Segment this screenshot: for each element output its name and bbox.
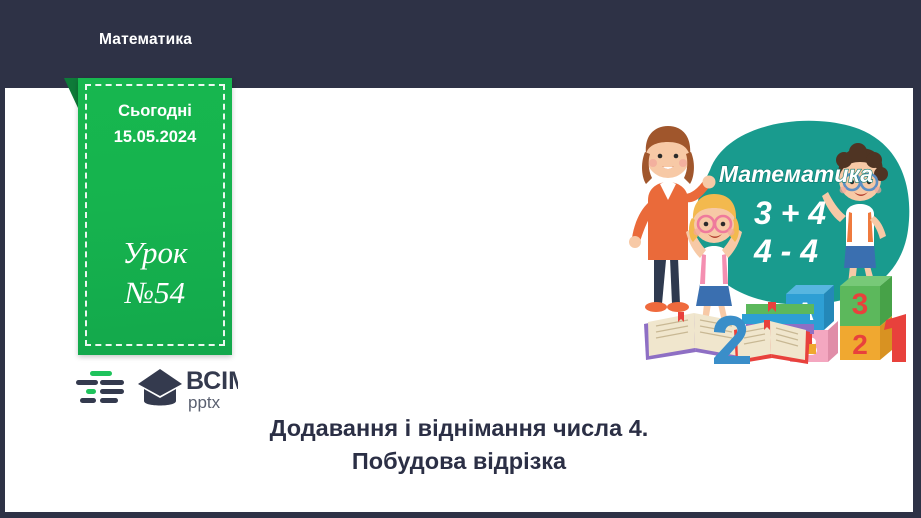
block-3: 3	[840, 276, 892, 326]
graduation-cap-icon	[138, 369, 182, 406]
bcim-logo[interactable]: ВСІМ pptx	[76, 363, 238, 413]
lesson-ribbon: Сьогодні 15.05.2024 Урок №54	[78, 78, 232, 355]
logo-brand-text: ВСІМ	[186, 367, 238, 395]
ribbon-fold-corner	[64, 78, 78, 108]
lesson-number: №54	[78, 273, 232, 313]
blob-title: Математика	[719, 161, 873, 187]
slide-root: Математика	[0, 0, 921, 518]
equation-1: 3 + 4	[754, 195, 826, 231]
math-illustration: 3 2 A	[618, 108, 913, 364]
lesson-title-line-2: Побудова відрізка	[5, 445, 913, 478]
ribbon-date-group: Сьогодні 15.05.2024	[78, 99, 232, 150]
lesson-title: Додавання і віднімання числа 4. Побудова…	[5, 412, 913, 479]
today-label: Сьогодні	[78, 99, 232, 125]
ribbon-body: Сьогодні 15.05.2024 Урок №54	[78, 78, 232, 355]
ribbon-lesson-group: Урок №54	[78, 233, 232, 312]
lesson-title-line-1: Додавання і віднімання числа 4.	[5, 412, 913, 445]
lesson-word: Урок	[78, 233, 232, 273]
logo-suffix-text: pptx	[188, 393, 221, 412]
subject-label: Математика	[99, 31, 192, 49]
equation-2: 4 - 4	[753, 233, 818, 269]
svg-text:2: 2	[852, 329, 868, 360]
lesson-date: 15.05.2024	[78, 125, 232, 151]
svg-text:3: 3	[852, 288, 869, 321]
speed-lines-icon	[76, 371, 124, 403]
